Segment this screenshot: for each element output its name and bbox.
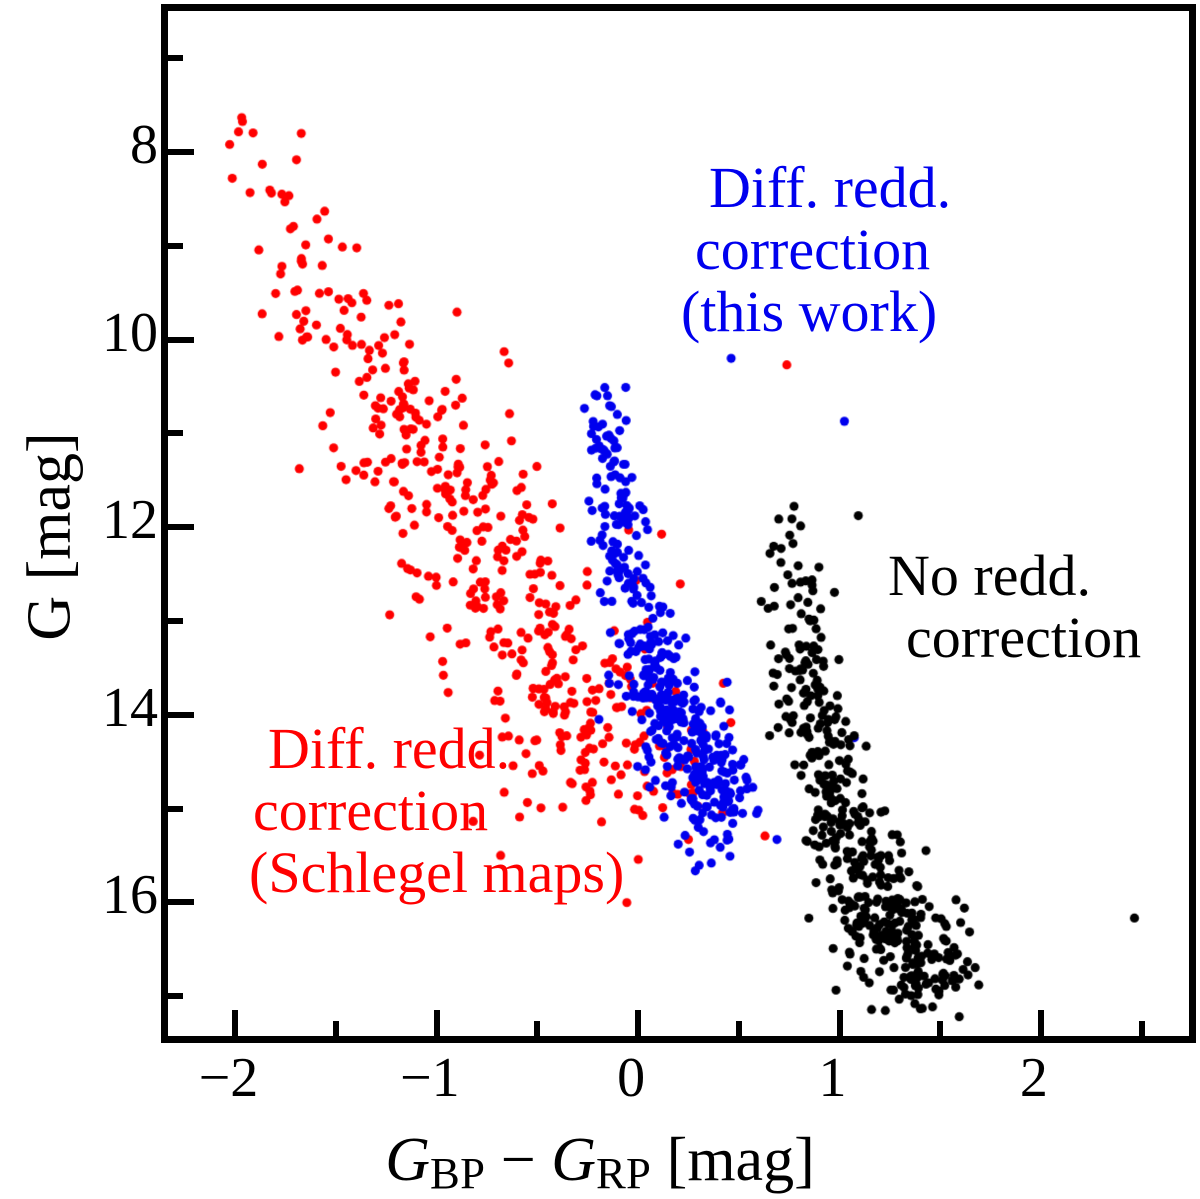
x-tick-label-1: −1	[400, 1050, 460, 1106]
red-series-label-line3: (Schlegel maps)	[249, 842, 624, 904]
y-minor-tick-0	[168, 55, 183, 61]
cmd-figure: −2−1012 810121416 GBP − GRP [mag] G [mag…	[0, 0, 1200, 1199]
x-axis-title: GBP − GRP [mag]	[0, 1125, 1200, 1199]
y-minor-tick-3	[168, 618, 183, 624]
y-axis-title: G [mag]	[15, 237, 86, 837]
y-tick-3	[168, 712, 194, 718]
y-tick-label-1: 10	[102, 305, 158, 361]
x-axis-title-unit: [mag]	[667, 1126, 815, 1194]
y-tick-2	[168, 524, 194, 530]
y-tick-4	[168, 899, 194, 905]
red-series-label-line1: Diff. redd.	[268, 718, 624, 780]
y-tick-label-4: 16	[102, 867, 158, 923]
black-series-label-line1: No redd.	[888, 545, 1141, 607]
black-series-label: No redd. correction	[888, 545, 1141, 669]
y-axis-title-g: G	[16, 596, 84, 641]
x-axis-title-sub-bp: BP	[430, 1148, 485, 1198]
blue-series-label-line1: Diff. redd.	[709, 157, 951, 219]
y-tick-1	[168, 337, 194, 343]
x-tick-1	[434, 1010, 440, 1036]
x-axis-title-g-rp: G	[551, 1126, 596, 1194]
x-tick-label-2: 0	[617, 1050, 645, 1106]
blue-series-label-line2: correction	[695, 219, 951, 281]
x-minor-tick-0	[333, 1021, 339, 1036]
x-minor-tick-4	[1139, 1021, 1145, 1036]
red-series-label: Diff. redd. correction (Schlegel maps)	[249, 718, 624, 904]
x-minor-tick-1	[534, 1021, 540, 1036]
x-tick-0	[232, 1010, 238, 1036]
x-axis-title-g-bp: G	[385, 1126, 430, 1194]
y-tick-label-0: 8	[130, 117, 158, 173]
y-minor-tick-5	[168, 993, 183, 999]
blue-series-label-line3: (this work)	[681, 281, 951, 343]
x-tick-3	[837, 1010, 843, 1036]
x-tick-label-0: −2	[199, 1050, 259, 1106]
red-series-label-line2: correction	[253, 780, 624, 842]
y-minor-tick-2	[168, 430, 183, 436]
y-tick-label-2: 12	[102, 492, 158, 548]
y-minor-tick-1	[168, 243, 183, 249]
black-series-label-line2: correction	[906, 607, 1141, 669]
x-tick-label-3: 1	[819, 1050, 847, 1106]
blue-series-label: Diff. redd. correction (this work)	[681, 157, 951, 343]
y-minor-tick-4	[168, 806, 183, 812]
x-tick-2	[635, 1010, 641, 1036]
x-tick-label-4: 2	[1020, 1050, 1048, 1106]
y-tick-label-3: 14	[102, 680, 158, 736]
x-minor-tick-3	[937, 1021, 943, 1036]
y-axis-title-unit: [mag]	[16, 432, 84, 580]
x-axis-title-minus: −	[501, 1126, 536, 1194]
x-minor-tick-2	[736, 1021, 742, 1036]
y-tick-0	[168, 149, 194, 155]
x-axis-title-sub-rp: RP	[596, 1148, 651, 1198]
x-tick-4	[1038, 1010, 1044, 1036]
